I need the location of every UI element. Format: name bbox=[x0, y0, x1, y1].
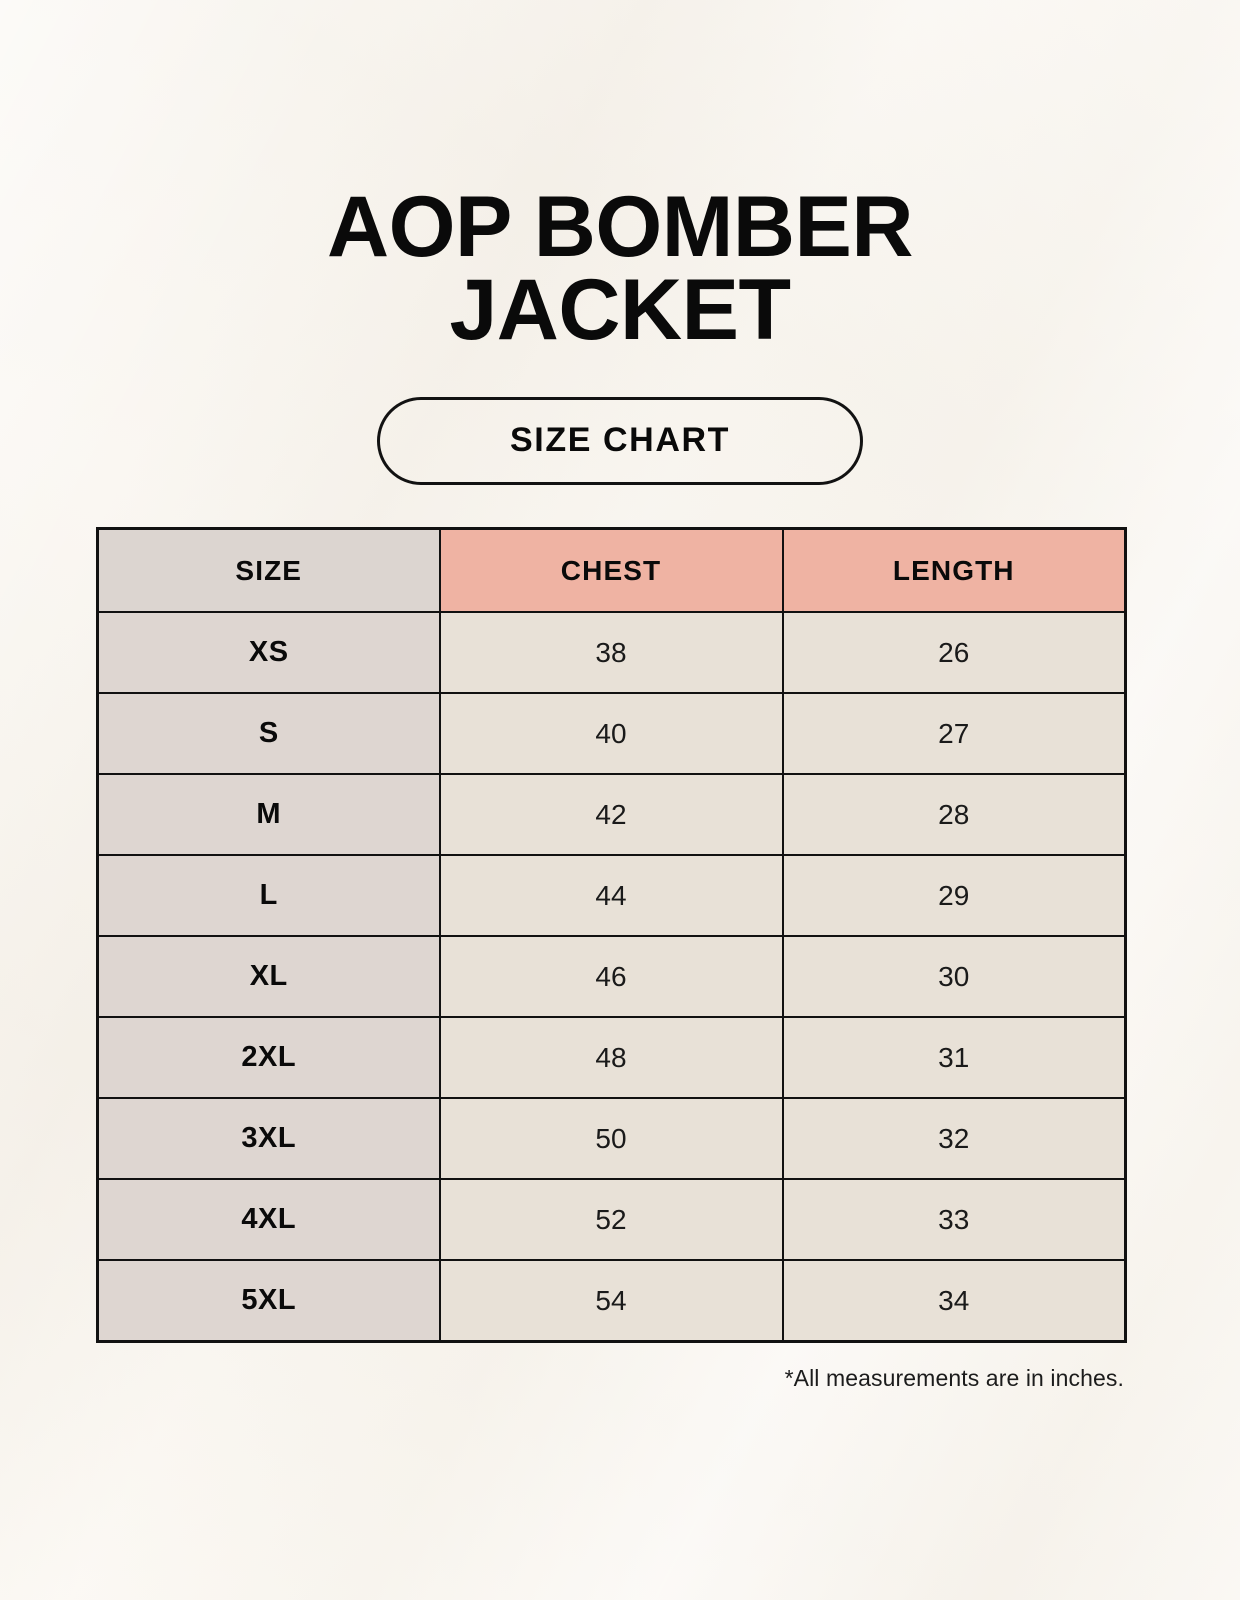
cell-chest: 50 bbox=[440, 1098, 783, 1179]
cell-length: 30 bbox=[783, 936, 1126, 1017]
size-chart-page: AOP BOMBER JACKET SIZE CHART SIZE CHEST … bbox=[0, 0, 1240, 1600]
cell-length: 29 bbox=[783, 855, 1126, 936]
cell-chest: 46 bbox=[440, 936, 783, 1017]
cell-size: XS bbox=[98, 612, 440, 693]
cell-chest: 44 bbox=[440, 855, 783, 936]
table-row: S 40 27 bbox=[98, 693, 1126, 774]
table-row: 5XL 54 34 bbox=[98, 1260, 1126, 1341]
size-chart-table: SIZE CHEST LENGTH XS 38 26 S 40 27 M bbox=[96, 527, 1127, 1343]
badge-row: SIZE CHART bbox=[96, 397, 1144, 485]
table-row: 4XL 52 33 bbox=[98, 1179, 1126, 1260]
size-table-wrapper: SIZE CHEST LENGTH XS 38 26 S 40 27 M bbox=[96, 527, 1144, 1343]
column-header-chest: CHEST bbox=[440, 528, 783, 612]
table-header-row: SIZE CHEST LENGTH bbox=[98, 528, 1126, 612]
table-header: SIZE CHEST LENGTH bbox=[98, 528, 1126, 612]
column-header-size: SIZE bbox=[98, 528, 440, 612]
column-header-length: LENGTH bbox=[783, 528, 1126, 612]
cell-size: 2XL bbox=[98, 1017, 440, 1098]
table-row: XS 38 26 bbox=[98, 612, 1126, 693]
table-row: L 44 29 bbox=[98, 855, 1126, 936]
cell-length: 26 bbox=[783, 612, 1126, 693]
cell-size: 5XL bbox=[98, 1260, 440, 1341]
cell-size: 3XL bbox=[98, 1098, 440, 1179]
cell-length: 28 bbox=[783, 774, 1126, 855]
cell-size: M bbox=[98, 774, 440, 855]
cell-chest: 40 bbox=[440, 693, 783, 774]
table-row: 2XL 48 31 bbox=[98, 1017, 1126, 1098]
cell-size: XL bbox=[98, 936, 440, 1017]
cell-chest: 48 bbox=[440, 1017, 783, 1098]
cell-length: 32 bbox=[783, 1098, 1126, 1179]
cell-length: 33 bbox=[783, 1179, 1126, 1260]
cell-chest: 42 bbox=[440, 774, 783, 855]
measurement-footnote: *All measurements are in inches. bbox=[96, 1365, 1124, 1392]
cell-size: 4XL bbox=[98, 1179, 440, 1260]
size-chart-badge: SIZE CHART bbox=[377, 397, 863, 485]
table-row: M 42 28 bbox=[98, 774, 1126, 855]
table-row: XL 46 30 bbox=[98, 936, 1126, 1017]
page-title: AOP BOMBER JACKET bbox=[300, 186, 940, 353]
cell-length: 34 bbox=[783, 1260, 1126, 1341]
cell-chest: 54 bbox=[440, 1260, 783, 1341]
cell-length: 27 bbox=[783, 693, 1126, 774]
cell-size: L bbox=[98, 855, 440, 936]
cell-size: S bbox=[98, 693, 440, 774]
cell-length: 31 bbox=[783, 1017, 1126, 1098]
title-block: AOP BOMBER JACKET bbox=[96, 0, 1144, 353]
cell-chest: 38 bbox=[440, 612, 783, 693]
cell-chest: 52 bbox=[440, 1179, 783, 1260]
table-row: 3XL 50 32 bbox=[98, 1098, 1126, 1179]
table-body: XS 38 26 S 40 27 M 42 28 L 44 29 bbox=[98, 612, 1126, 1341]
